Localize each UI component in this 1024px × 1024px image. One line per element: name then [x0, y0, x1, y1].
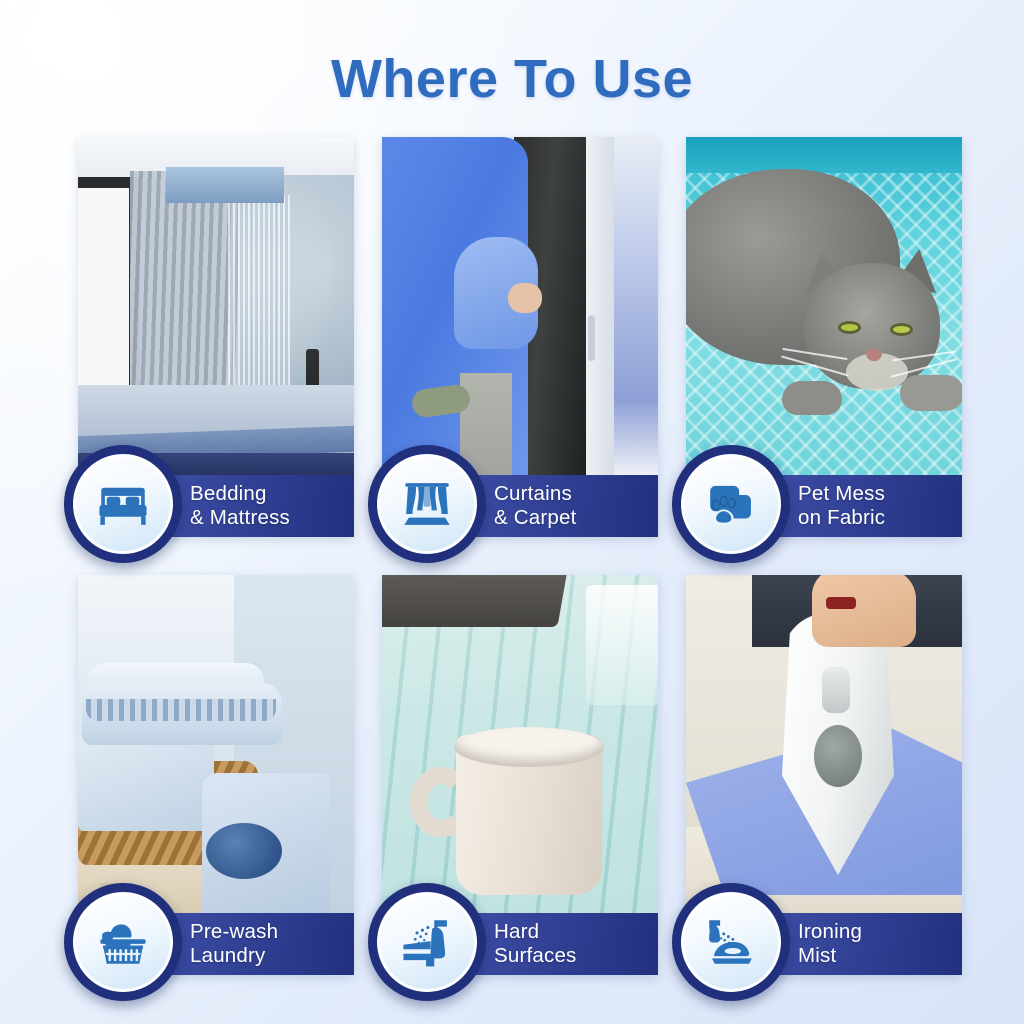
card-badge[interactable] [672, 445, 790, 563]
card-photo-bedroom [78, 137, 354, 475]
card-label-text: Ironing Mist [798, 920, 862, 968]
card-badge[interactable] [368, 445, 486, 563]
paw-on-fabric-icon [681, 454, 781, 554]
bed-icon [73, 454, 173, 554]
card-label-text: Pre-wash Laundry [190, 920, 278, 968]
card-photo-laundry [78, 575, 354, 913]
card-label-text: Bedding & Mattress [190, 482, 290, 530]
card-photo-iron [686, 575, 962, 913]
use-case-card-curtains-carpet[interactable]: Curtains & Carpet [382, 137, 658, 537]
spray-surface-icon [377, 892, 477, 992]
curtain-icon [377, 454, 477, 554]
card-badge[interactable] [64, 445, 182, 563]
card-label-text: Hard Surfaces [494, 920, 577, 968]
card-badge[interactable] [672, 883, 790, 1001]
card-badge[interactable] [64, 883, 182, 1001]
card-label-text: Curtains & Carpet [494, 482, 577, 530]
page-title: Where To Use [0, 0, 1024, 110]
use-case-grid: Bedding & Mattress [78, 137, 946, 975]
laundry-basket-icon [73, 892, 173, 992]
card-badge[interactable] [368, 883, 486, 1001]
card-photo-cat-on-rug [686, 137, 962, 475]
use-case-card-bedding-mattress[interactable]: Bedding & Mattress [78, 137, 354, 537]
card-label-text: Pet Mess on Fabric [798, 482, 885, 530]
card-photo-curtains [382, 137, 658, 475]
use-case-card-hard-surfaces[interactable]: Hard Surfaces [382, 575, 658, 975]
card-photo-mug-on-table [382, 575, 658, 913]
use-case-card-ironing-mist[interactable]: Ironing Mist [686, 575, 962, 975]
use-case-card-pet-mess-on-fabric[interactable]: Pet Mess on Fabric [686, 137, 962, 537]
use-case-card-pre-wash-laundry[interactable]: Pre-wash Laundry [78, 575, 354, 975]
spray-iron-icon [681, 892, 781, 992]
